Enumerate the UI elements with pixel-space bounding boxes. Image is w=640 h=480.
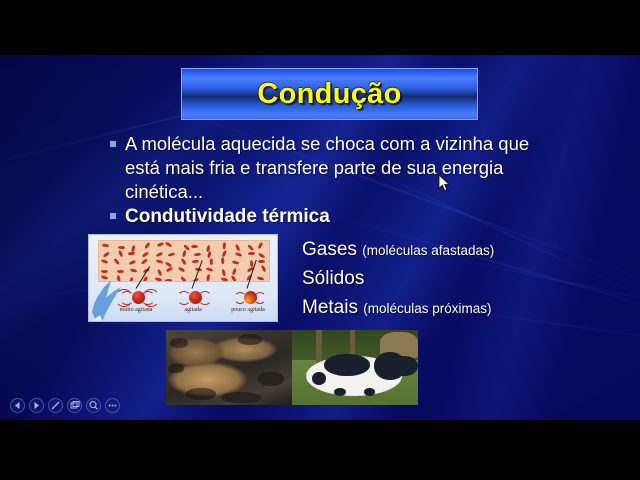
more-options-button[interactable] [105, 398, 120, 413]
player-toolbar[interactable] [10, 398, 120, 413]
molecule-agitation-diagram: muito agitada agitada pouco agitada [88, 234, 278, 322]
molecule-dot [156, 259, 164, 264]
molecule-dot [156, 242, 164, 248]
next-slide-button[interactable] [29, 398, 44, 413]
molecule-dot [223, 242, 227, 249]
ball-label: agitada [176, 307, 210, 313]
molecule-dot [141, 258, 149, 265]
letterbox-top-bar [0, 0, 640, 55]
molecule-dot [191, 245, 198, 249]
mud-texture [170, 338, 188, 348]
molecule-dot [180, 276, 187, 282]
molecule-dot [178, 266, 186, 272]
cow-lying-on-grass-photo [292, 330, 418, 405]
bullet-item-1-label: A molécula aquecida se choca com a vizin… [125, 132, 540, 204]
molecule-dot [117, 250, 123, 258]
molecule-dot [155, 277, 163, 282]
molecule-dot [117, 245, 124, 249]
pigs-in-mud-photo [166, 330, 292, 405]
molecule-dot [165, 242, 173, 249]
molecule-dot [192, 259, 199, 263]
cow-head [392, 356, 418, 376]
mud-texture [186, 388, 216, 400]
molecule-dot [102, 244, 109, 248]
slides-icon [68, 399, 81, 412]
ball-label: pouco agitada [228, 307, 268, 313]
bullet-item-2-label: Condutividade térmica [125, 205, 330, 228]
molecule-dot [258, 252, 266, 259]
cow-patch [324, 354, 370, 376]
molecule-dot [141, 251, 149, 258]
molecule-dot [100, 259, 108, 265]
conductivity-list: Gases (moléculas afastadas) Sólidos Meta… [302, 236, 494, 323]
bullet-item-1: A molécula aquecida se choca com a vizin… [110, 132, 540, 204]
conductivity-list-item: Gases (moléculas afastadas) [302, 236, 494, 265]
cow-hoof [364, 388, 375, 396]
molecule-dot [260, 265, 266, 273]
mud-texture [238, 334, 262, 345]
molecule-dot [102, 251, 110, 258]
conductivity-item-main: Sólidos [302, 268, 364, 289]
prev-icon [11, 399, 24, 412]
tree-trunk [316, 330, 322, 364]
conductivity-item-main: Gases [302, 239, 357, 260]
molecule-dot [234, 244, 240, 252]
cow-patch [312, 372, 326, 385]
molecule-dot [258, 260, 265, 264]
molecule-dot [231, 274, 238, 282]
pen-icon [49, 399, 62, 412]
molecule-dot [248, 252, 255, 256]
molecule-dot [234, 252, 242, 258]
molecule-dot [210, 259, 213, 266]
next-icon [30, 399, 43, 412]
molecule-dot [180, 258, 187, 266]
magnifier-icon [87, 399, 100, 412]
zoom-button[interactable] [86, 398, 101, 413]
photo-strip [166, 330, 418, 405]
ball-label: muito agitada [114, 307, 158, 313]
conductivity-item-note: (moléculas afastadas) [362, 243, 494, 258]
molecule-dot [232, 268, 238, 276]
molecule-dot [257, 242, 263, 250]
molecule-dot [221, 269, 226, 277]
cow-hoof [334, 388, 346, 396]
molecule-dot [144, 242, 151, 250]
slide-title-banner: Condução [181, 68, 478, 120]
molecule-dot [206, 274, 211, 282]
molecule-dot [221, 258, 225, 265]
molecule-dot [257, 277, 265, 282]
molecule-dot [231, 260, 239, 265]
molecule-dot [247, 244, 254, 251]
previous-slide-button[interactable] [10, 398, 25, 413]
page-title: Condução [182, 69, 477, 119]
conductivity-item-main: Metais [302, 297, 358, 318]
ellipsis-icon [106, 399, 119, 412]
molecule-dot [156, 252, 164, 258]
wave-arc [142, 289, 160, 307]
video-player-screen: Condução A molécula aquecida se choca co… [0, 0, 640, 480]
molecule-dot [182, 250, 187, 258]
conductivity-list-item: Sólidos [302, 265, 494, 294]
molecule-dot [205, 267, 213, 272]
bullet-square-icon [110, 141, 116, 147]
diagram-material-bar [98, 240, 270, 282]
molecule-dot [156, 268, 162, 276]
molecule-dot [165, 266, 173, 272]
molecule-dot [194, 253, 201, 257]
pen-tool-button[interactable] [48, 398, 63, 413]
wave-arc [198, 291, 212, 305]
mud-texture [168, 364, 184, 373]
molecule-dot [221, 277, 229, 282]
bullet-item-2: Condutividade térmica [110, 205, 330, 228]
molecule-dot [129, 259, 137, 265]
conductivity-item-note: (moléculas próximas) [363, 301, 491, 316]
letterbox-bottom-bar [0, 420, 640, 480]
molecule-dot [207, 251, 212, 259]
molecule-dot [101, 270, 108, 274]
wave-arc [254, 292, 266, 304]
molecule-dot [117, 270, 124, 274]
molecule-dot [168, 252, 176, 257]
molecule-dot [129, 277, 134, 282]
molecule-dot [130, 268, 138, 273]
molecule-dot [128, 251, 135, 255]
bullet-square-icon [110, 213, 116, 219]
molecule-dot [113, 258, 120, 266]
slide-view-button[interactable] [67, 398, 82, 413]
conductivity-list-item: Metais (moléculas próximas) [302, 294, 494, 323]
molecule-dot [165, 278, 172, 282]
mud-texture [258, 372, 284, 386]
mud-texture [221, 392, 261, 403]
